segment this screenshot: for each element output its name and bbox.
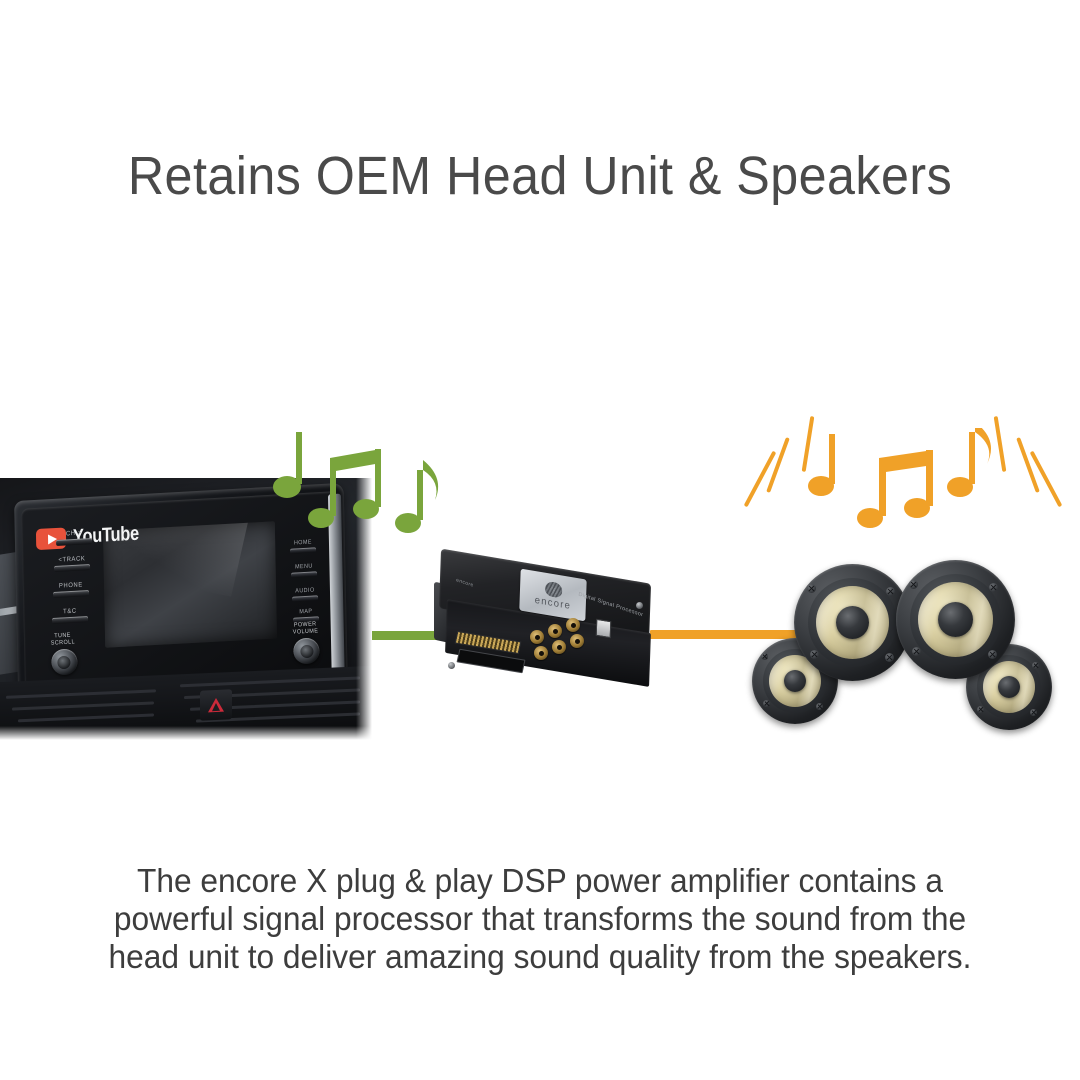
page-title: Retains OEM Head Unit & Speakers [38,146,1042,206]
speaker-screw [763,700,770,707]
speaker-dust-cap [836,606,869,639]
speaker-screw [1030,709,1037,716]
speaker-screw [810,650,819,659]
knob-dial[interactable] [293,637,320,664]
eighth-note-icon [395,460,438,533]
button-label: CH > [58,529,90,538]
description-line-3: head unit to deliver amazing sound quali… [43,938,1038,976]
beamed-eighth-pair-icon [857,450,933,528]
oem-speakers-group [744,546,1074,756]
button-label: AUDIO [293,587,316,594]
speaker-screw [807,584,816,593]
quarter-note-icon [273,432,302,498]
eighth-note-icon [947,428,991,497]
knob-label-line2: SCROLL [51,639,76,647]
speaker-screw [761,653,768,660]
speaker-screw [912,647,921,656]
speaker-screw [1032,662,1039,669]
encore-wordmark: encore [534,594,571,611]
head-unit-button-tc[interactable]: T&C [52,607,88,624]
hazard-triangle-inner [212,703,220,711]
rca-jack[interactable] [548,624,562,638]
speaker-screw [909,580,918,589]
signal-flow-illustration: YouTube CH > <TRACK PHONE T&C TUNE SCROL… [0,400,1080,780]
button-label: <TRACK [56,555,88,564]
speaker-screw [977,706,984,713]
music-notes-green [265,428,465,548]
rca-jack[interactable] [552,640,566,654]
speaker-screw [816,703,823,710]
knob-dial[interactable] [50,648,77,675]
speaker-screw [988,650,997,659]
quarter-note-icon [808,434,835,496]
head-unit-button-track[interactable]: <TRACK [54,555,90,572]
button-label: PHONE [55,581,87,590]
rca-jack[interactable] [530,630,544,644]
amplifier-screw [636,602,643,609]
amplifier-usb-port[interactable] [596,619,612,638]
photo-bottom-fade [0,726,372,740]
power-volume-knob[interactable]: POWER VOLUME [291,621,322,664]
speaker-large-left [794,564,911,681]
head-unit-button-audio[interactable]: AUDIO [292,587,318,601]
head-unit-button-ch[interactable]: CH > [56,529,92,546]
hazard-light-button[interactable] [200,689,232,721]
button-label: MENU [292,563,315,570]
dsp-power-amplifier: encore encore Digital Signal Processor [428,566,664,692]
button-label: MAP [294,608,317,615]
encore-mark-icon [544,580,562,598]
speaker-dust-cap [938,602,973,637]
beamed-eighth-pair-icon [308,449,381,528]
speaker-dust-cap [998,676,1020,698]
music-notes-orange [793,428,1003,548]
head-unit-button-phone[interactable]: PHONE [53,581,89,598]
speaker-screw [885,653,894,662]
description-line-1: The encore X plug & play DSP power ampli… [43,862,1038,900]
amplifier-screw [448,662,455,669]
head-unit-button-menu[interactable]: MENU [291,563,317,577]
speaker-screw [989,583,998,592]
button-label: T&C [54,607,86,616]
rca-jack[interactable] [566,618,580,632]
speaker-screw [886,587,895,596]
tune-scroll-knob[interactable]: TUNE SCROLL [49,632,78,675]
description-paragraph: The encore X plug & play DSP power ampli… [43,862,1038,976]
rca-jack[interactable] [570,634,584,648]
speaker-dust-cap [784,670,806,692]
rca-jack[interactable] [534,646,548,660]
description-line-2: powerful signal processor that transform… [43,900,1038,938]
knob-label-line2: VOLUME [293,628,319,636]
speaker-large-right [896,560,1015,679]
